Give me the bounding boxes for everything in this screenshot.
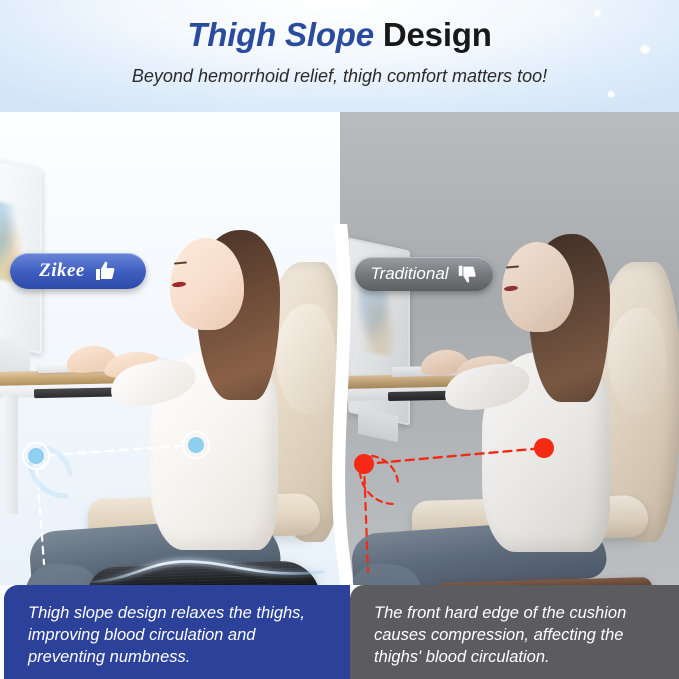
caption-good: Thigh slope design relaxes the thighs, i…: [4, 585, 350, 679]
page-subtitle: Beyond hemorrhoid relief, thigh comfort …: [0, 66, 679, 87]
brand-logo-text: Zikee: [39, 260, 85, 282]
thumbs-down-icon: [456, 263, 478, 285]
badge-good: Zikee: [10, 253, 146, 289]
desk-leg-left: [4, 394, 18, 514]
chair-headrest-right: [608, 308, 666, 414]
page-title-highlight: Thigh Slope: [187, 16, 374, 53]
product-comparison-infographic: Thigh Slope Design Beyond hemorrhoid rel…: [0, 0, 679, 679]
badge-bad: Traditional: [355, 257, 493, 291]
page-title: Thigh Slope Design: [0, 16, 679, 54]
panel-good: Zikee: [0, 112, 348, 585]
page-title-rest: Design: [383, 16, 492, 53]
thumbs-up-icon: [93, 259, 117, 283]
traditional-label: Traditional: [370, 264, 448, 284]
header-banner: Thigh Slope Design Beyond hemorrhoid rel…: [0, 0, 679, 112]
chair-headrest-left: [276, 304, 336, 414]
comparison-panels: Zikee: [0, 112, 679, 585]
caption-bad: The front hard edge of the cushion cause…: [350, 585, 679, 679]
panel-bad: Traditional: [340, 112, 679, 585]
caption-bars: Thigh slope design relaxes the thighs, i…: [0, 585, 679, 679]
